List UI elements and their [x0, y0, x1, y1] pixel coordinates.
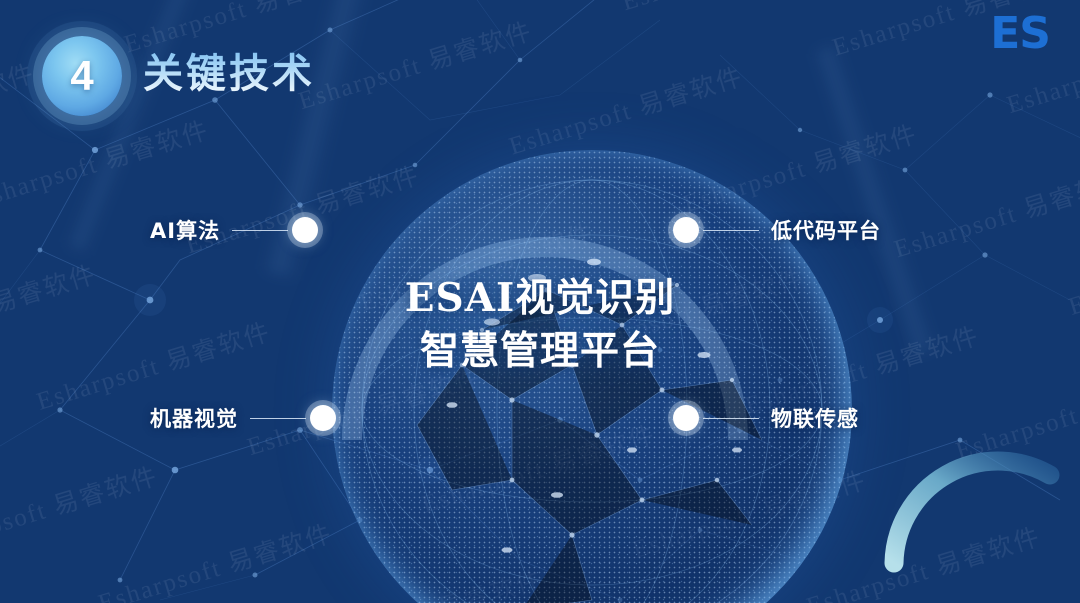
spoke-node-dot-icon[interactable]: [673, 217, 699, 243]
slide-header: 4 关键技术 ES: [0, 0, 1080, 140]
brand-logo: ES: [990, 12, 1050, 56]
watermark-text: Esharpsoft 易睿软件: [304, 559, 547, 603]
spoke-node-dot-icon[interactable]: [673, 405, 699, 431]
spoke-connector-line: [250, 418, 306, 419]
section-number-badge: 4: [42, 36, 122, 116]
watermark-text: Esharpsoft 易睿软件: [93, 513, 336, 603]
watermark-text: Esharpsoft 易睿软件: [417, 415, 660, 521]
spoke-label-iot-sensing: 物联传感: [771, 403, 859, 433]
spoke-low-code-platform[interactable]: 低代码平台: [673, 215, 881, 245]
center-title-line-1: ESAI视觉识别: [0, 272, 1080, 325]
slide-canvas: Esharpsoft 易睿软件Esharpsoft 易睿软件Esharpsoft…: [0, 0, 1080, 603]
watermark-text: Esharpsoft 易睿软件: [951, 361, 1080, 467]
center-title-line-2: 智慧管理平台: [0, 325, 1080, 378]
spoke-connector-line: [703, 230, 759, 231]
spoke-node-dot-icon[interactable]: [292, 217, 318, 243]
spoke-label-low-code-platform: 低代码平台: [771, 215, 881, 245]
watermark-text: Esharpsoft 易睿软件: [627, 460, 870, 566]
watermark-text: Esharpsoft 易睿软件: [181, 156, 424, 262]
section-number-text: 4: [70, 55, 93, 97]
page-title: 关键技术: [143, 41, 315, 99]
spoke-label-ai-algorithm: AI算法: [150, 215, 220, 245]
center-platform-title: ESAI视觉识别 智慧管理平台: [0, 272, 1080, 377]
spoke-machine-vision[interactable]: 机器视觉: [150, 403, 336, 433]
spoke-connector-line: [703, 418, 759, 419]
corner-accent-arc: [880, 413, 1080, 603]
watermark-text: Esharpsoft 易睿软件: [0, 457, 162, 563]
spoke-label-machine-vision: 机器视觉: [150, 403, 238, 433]
watermark-text: Esharpsoft 易睿软件: [802, 517, 1045, 603]
spoke-ai-algorithm[interactable]: AI算法: [150, 215, 318, 245]
spoke-connector-line: [232, 230, 288, 231]
watermark-text: Esharpsoft 易睿软件: [889, 160, 1080, 266]
spoke-iot-sensing[interactable]: 物联传感: [673, 403, 859, 433]
spoke-node-dot-icon[interactable]: [310, 405, 336, 431]
